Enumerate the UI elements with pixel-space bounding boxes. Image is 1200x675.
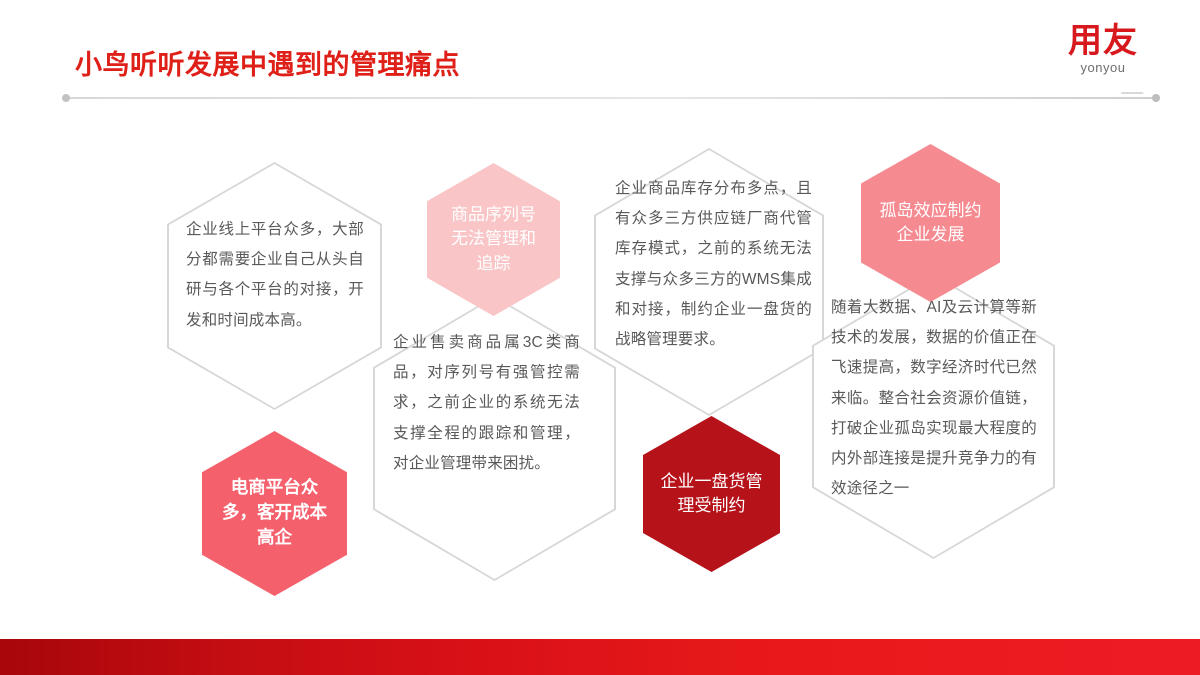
group-2-badge[interactable]: 商品序列号无法管理和追踪: [427, 163, 560, 316]
footer-accent-bar: [0, 639, 1200, 675]
header-divider: [62, 92, 1160, 104]
group-1-badge-label: 电商平台众多，客开成本高企: [202, 476, 347, 551]
group-4-paragraph: 随着大数据、AI及云计算等新技术的发展，数据的价值正在飞速提高，数字经济时代已然…: [831, 293, 1037, 505]
page-title: 小鸟听听发展中遇到的管理痛点: [75, 43, 460, 82]
group-3-badge-label: 企业一盘货管理受制约: [643, 470, 780, 518]
slide-canvas: 小鸟听听发展中遇到的管理痛点 用友 yonyou 企业线上平台众多，大部分都需要…: [0, 0, 1200, 675]
brand-logo: 用友 yonyou: [1048, 24, 1158, 75]
group-2-paragraph: 企业售卖商品属3C类商品，对序列号有强管控需求，之前企业的系统无法支撑全程的跟踪…: [393, 328, 580, 479]
group-4-badge-label: 孤岛效应制约企业发展: [861, 199, 1000, 247]
brand-logo-en: yonyou: [1048, 60, 1158, 75]
divider-tick-icon: [1120, 92, 1149, 101]
brand-logo-cn: 用友: [1048, 24, 1158, 58]
group-1-paragraph: 企业线上平台众多，大部分都需要企业自己从头自研与各个平台的对接，开发和时间成本高…: [186, 215, 364, 336]
group-3-badge[interactable]: 企业一盘货管理受制约: [643, 416, 780, 572]
divider-line: [68, 97, 1154, 99]
divider-dot-left-icon: [62, 94, 70, 102]
group-4-badge[interactable]: 孤岛效应制约企业发展: [861, 144, 1000, 302]
group-1-badge[interactable]: 电商平台众多，客开成本高企: [202, 431, 347, 596]
group-2-badge-label: 商品序列号无法管理和追踪: [427, 203, 560, 275]
group-3-paragraph: 企业商品库存分布多点，且有众多三方供应链厂商代管库存模式，之前的系统无法支撑与众…: [615, 174, 812, 355]
divider-dot-right-icon: [1152, 94, 1160, 102]
